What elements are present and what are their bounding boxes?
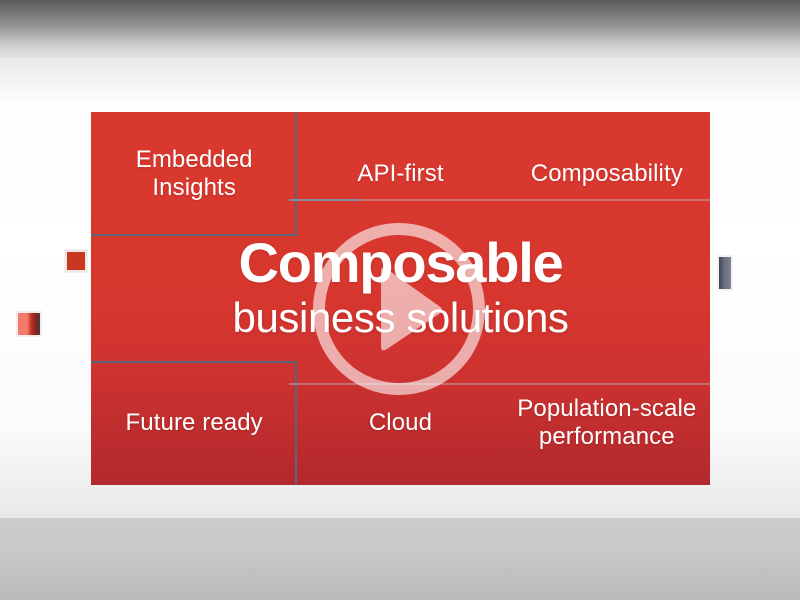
feature-label-line1: Embedded (136, 146, 253, 173)
play-button[interactable] (312, 222, 486, 396)
feature-label-line1: Population-scale (517, 395, 696, 422)
feature-cell-api-first[interactable]: API-first (297, 112, 503, 236)
feature-label-population-scale-performance: Population-scale performance (517, 395, 696, 451)
feature-cell-population-scale-performance[interactable]: Population-scale performance (504, 361, 710, 485)
feature-label-api-first: API-first (357, 160, 443, 188)
feature-label-embedded-insights: Embedded Insights (136, 146, 253, 202)
grid-cell-middle-right (504, 236, 710, 360)
rule-top-right (514, 199, 710, 201)
background-band-top (0, 0, 800, 58)
salmon-gradient-chip (16, 311, 42, 337)
background-band-bottom (0, 518, 800, 600)
rule-bottom-right (514, 383, 710, 385)
red-square-chip (65, 250, 87, 272)
feature-label-line2: Insights (152, 174, 236, 201)
grid-cell-middle-left (91, 236, 297, 360)
feature-cell-composability[interactable]: Composability (504, 112, 710, 236)
play-triangle-icon (312, 222, 486, 396)
feature-label-cloud: Cloud (369, 409, 432, 437)
video-panel[interactable]: Embedded Insights API-first Composabilit… (91, 112, 710, 485)
screenshot-stage: Embedded Insights API-first Composabilit… (0, 0, 800, 600)
feature-label-line2: performance (539, 423, 675, 450)
feature-cell-embedded-insights[interactable]: Embedded Insights (91, 112, 297, 236)
rule-top-middle (289, 199, 514, 201)
feature-label-composability: Composability (531, 160, 683, 188)
feature-cell-future-ready[interactable]: Future ready (91, 361, 297, 485)
feature-label-future-ready: Future ready (126, 409, 263, 437)
slate-bar-chip (717, 255, 733, 291)
